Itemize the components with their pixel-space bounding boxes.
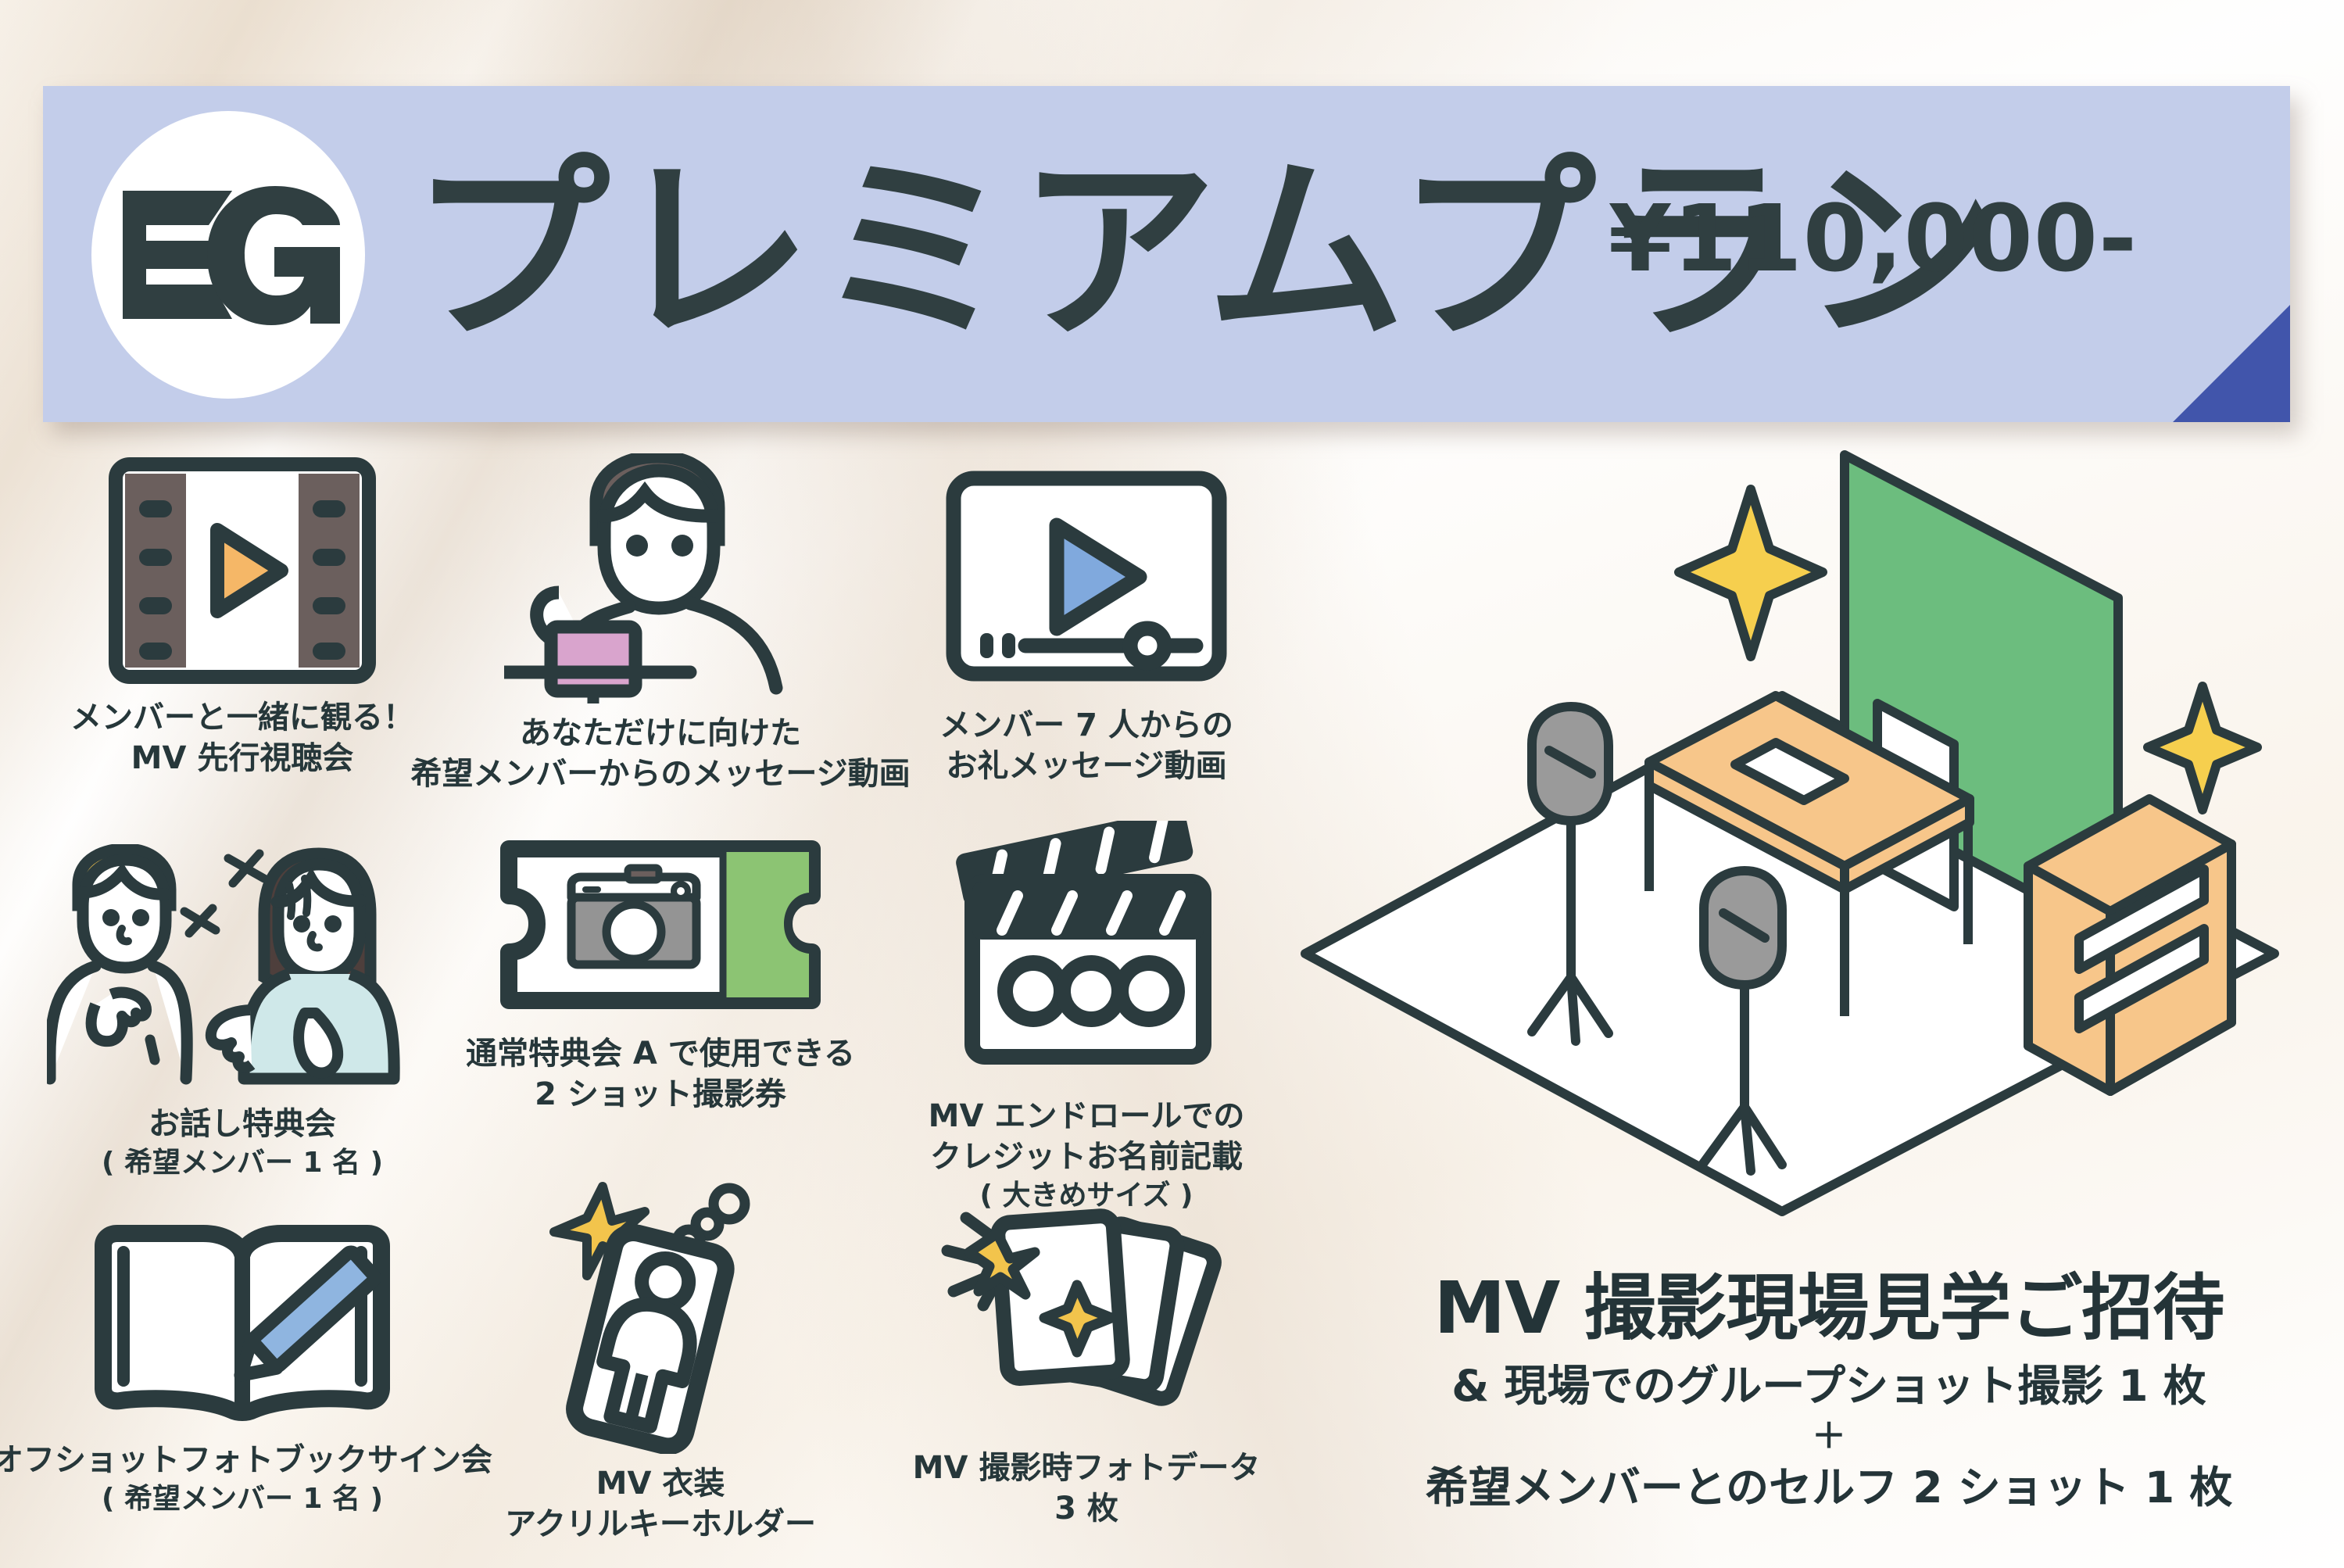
perk-line: クレジットお名前記載: [929, 1137, 1245, 1177]
perk-line: 3 枚: [913, 1488, 1261, 1529]
highlight-sub-1: & 現場でのグループショット撮影 1 枚: [1329, 1355, 2329, 1416]
perk-caption: あなただけに向けた 希望メンバーからのメッセージ動画: [410, 713, 910, 794]
perk-line: お話し特典会: [102, 1104, 383, 1144]
header-banner: プレミアムプラン ¥110,000-: [43, 86, 2290, 430]
highlight-block: MV 撮影現場見学ご招待 & 現場でのグループショット撮影 1 枚 ＋ 希望メン…: [1329, 1266, 2329, 1518]
perk-line: MV 衣装: [505, 1463, 816, 1504]
perk-line: お礼メッセージ動画: [939, 746, 1233, 786]
perk-caption: MV 衣装 アクリルキーホルダー: [505, 1463, 816, 1545]
perk-caption: MV 撮影時フォトデータ 3 枚: [913, 1448, 1261, 1529]
perk-sub: ( 希望メンバー 1 名 ): [0, 1480, 492, 1518]
perk-item: MV 撮影時フォトデータ 3 枚: [875, 1204, 1297, 1529]
perk-line: MV 撮影時フォトデータ: [913, 1448, 1261, 1488]
highlight-plus: ＋: [1329, 1416, 2329, 1457]
banner-band: プレミアムプラン ¥110,000-: [43, 86, 2290, 422]
perk-line: オフショットフォトブックサイン会: [0, 1440, 492, 1480]
clapperboard-icon: [946, 821, 1227, 1087]
perk-item: メンバー 7 人からの お礼メッセージ動画: [875, 461, 1297, 786]
perk-line: メンバー 7 人からの: [939, 705, 1233, 746]
perk-caption: メンバー 7 人からの お礼メッセージ動画: [939, 705, 1233, 786]
perk-caption: 通常特典会 A で使用できる 2 ショット撮影券: [466, 1033, 855, 1115]
perk-item: 通常特典会 A で使用できる 2 ショット撮影券: [438, 836, 883, 1115]
banner-corner-fold: [2173, 305, 2290, 422]
open-book-pencil-icon: [86, 1219, 399, 1430]
perk-line: あなただけに向けた: [410, 713, 910, 754]
two-people-talking-icon: [47, 844, 438, 1094]
ticket-camera-icon: [488, 836, 832, 1024]
acrylic-keyholder-icon: [520, 1180, 801, 1454]
perk-sub: ( 希望メンバー 1 名 ): [102, 1144, 383, 1182]
sparkle-small-icon: [2148, 686, 2257, 810]
perk-item: お話し特典会 ( 希望メンバー 1 名 ): [31, 844, 453, 1182]
highlight-sub-2: 希望メンバーとのセルフ 2 ショット 1 枚: [1329, 1457, 2329, 1518]
perk-caption: メンバーと一緒に観る！ MV 先行視聴会: [70, 697, 414, 779]
perk-line: メンバーと一緒に観る！: [70, 697, 414, 738]
photo-cards-sparkle-icon: [938, 1204, 1235, 1438]
perk-line: アクリルキーホルダー: [505, 1504, 816, 1545]
person-recording-phone-icon: [504, 453, 817, 703]
perk-item: MV 衣装 アクリルキーホルダー: [438, 1180, 883, 1545]
perk-caption: お話し特典会 ( 希望メンバー 1 名 ): [102, 1104, 383, 1182]
highlight-title: MV 撮影現場見学ご招待: [1329, 1266, 2329, 1351]
perk-item: MV エンドロールでの クレジットお名前記載 ( 大きめサイズ ): [875, 821, 1297, 1215]
perk-line: 通常特典会 A で使用できる: [466, 1033, 855, 1074]
isometric-photo-studio-illustration: [1297, 438, 2344, 1219]
perk-item: オフショットフォトブックサイン会 ( 希望メンバー 1 名 ): [23, 1219, 461, 1518]
video-player-icon: [938, 461, 1235, 696]
perk-item: あなただけに向けた 希望メンバーからのメッセージ動画: [438, 453, 883, 794]
perk-line: 2 ショット撮影券: [466, 1074, 855, 1115]
logo-3g-icon: [115, 177, 342, 333]
brand-logo: [91, 111, 365, 399]
sparkle-large-icon: [1679, 489, 1823, 657]
perk-line: MV エンドロールでの: [929, 1096, 1245, 1137]
film-strip-play-icon: [102, 453, 383, 688]
perks-grid: メンバーと一緒に観る！ MV 先行視聴会: [31, 453, 1329, 1563]
plan-price: ¥110,000-: [1608, 180, 2138, 297]
perk-item: メンバーと一緒に観る！ MV 先行視聴会: [31, 453, 453, 779]
poster-canvas: プレミアムプラン ¥110,000-: [0, 0, 2344, 1568]
perk-line: MV 先行視聴会: [70, 738, 414, 779]
perk-line: 希望メンバーからのメッセージ動画: [410, 754, 910, 794]
perk-caption: オフショットフォトブックサイン会 ( 希望メンバー 1 名 ): [0, 1440, 492, 1518]
perk-caption: MV エンドロールでの クレジットお名前記載 ( 大きめサイズ ): [929, 1096, 1245, 1215]
